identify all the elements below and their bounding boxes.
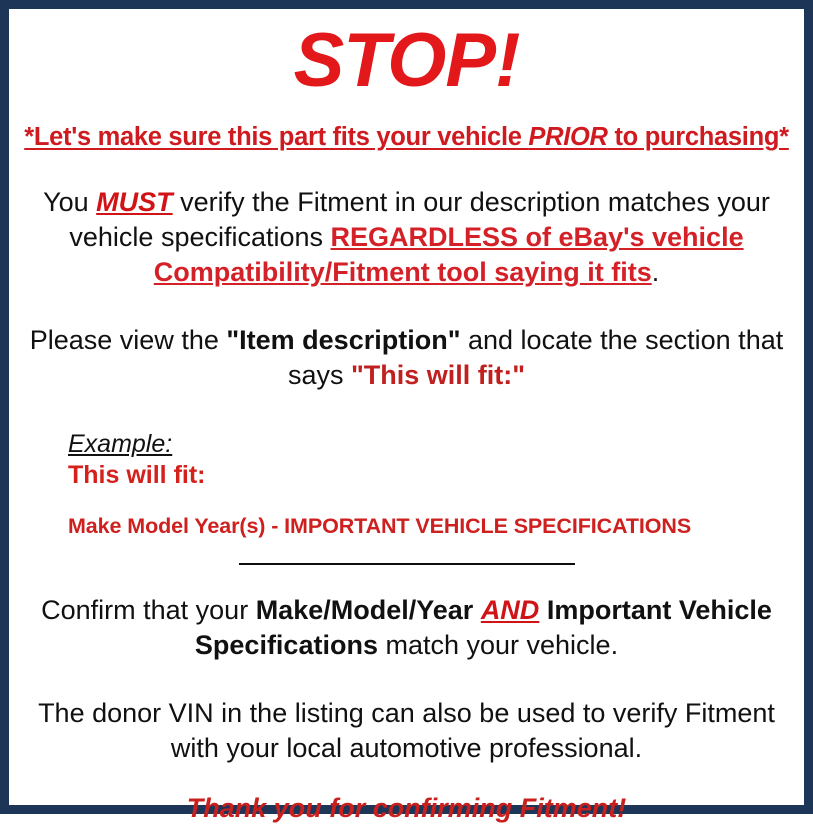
paragraph-donor-vin: The donor VIN in the listing can also be… (21, 696, 792, 766)
section-divider (239, 563, 575, 565)
emphasis-item-description: "Item description" (226, 325, 460, 355)
fitment-notice-card: STOP! *Let's make sure this part fits yo… (0, 0, 813, 814)
subtitle-emphasis-prior: PRIOR (528, 123, 607, 151)
confirm-seg3 (539, 595, 547, 625)
confirm-seg2 (473, 595, 481, 625)
fitment-notice-content: STOP! *Let's make sure this part fits yo… (21, 23, 792, 819)
stop-headline: STOP! (21, 23, 792, 99)
emphasis-must: MUST (96, 187, 173, 217)
confirm-seg4: match your vehicle. (378, 630, 618, 660)
confirm-seg1: Confirm that your (41, 595, 256, 625)
emphasis-this-will-fit: "This will fit:" (351, 360, 525, 390)
must-seg3: . (652, 257, 660, 287)
emphasis-make-model-year: Make/Model/Year (256, 595, 474, 625)
subtitle-banner: *Let's make sure this part fits your veh… (21, 123, 792, 151)
example-block: Example: This will fit: Make Model Year(… (21, 430, 792, 541)
thank-you-message: Thank you for confirming Fitment! (21, 792, 792, 824)
subtitle-part1: *Let's make sure this part fits your veh… (24, 123, 528, 151)
paragraph-item-description: Please view the "Item description" and l… (21, 323, 792, 393)
example-label: Example: (68, 430, 792, 459)
view-seg1: Please view the (30, 325, 227, 355)
example-fit-header: This will fit: (68, 460, 792, 490)
emphasis-and: AND (481, 595, 540, 625)
must-seg1: You (43, 187, 96, 217)
example-spec-line: Make Model Year(s) - IMPORTANT VEHICLE S… (68, 514, 792, 540)
subtitle-part2: to purchasing* (608, 123, 789, 151)
divider-wrap (21, 563, 792, 565)
paragraph-confirm: Confirm that your Make/Model/Year AND Im… (21, 593, 792, 663)
paragraph-must-verify: You MUST verify the Fitment in our descr… (21, 185, 792, 290)
